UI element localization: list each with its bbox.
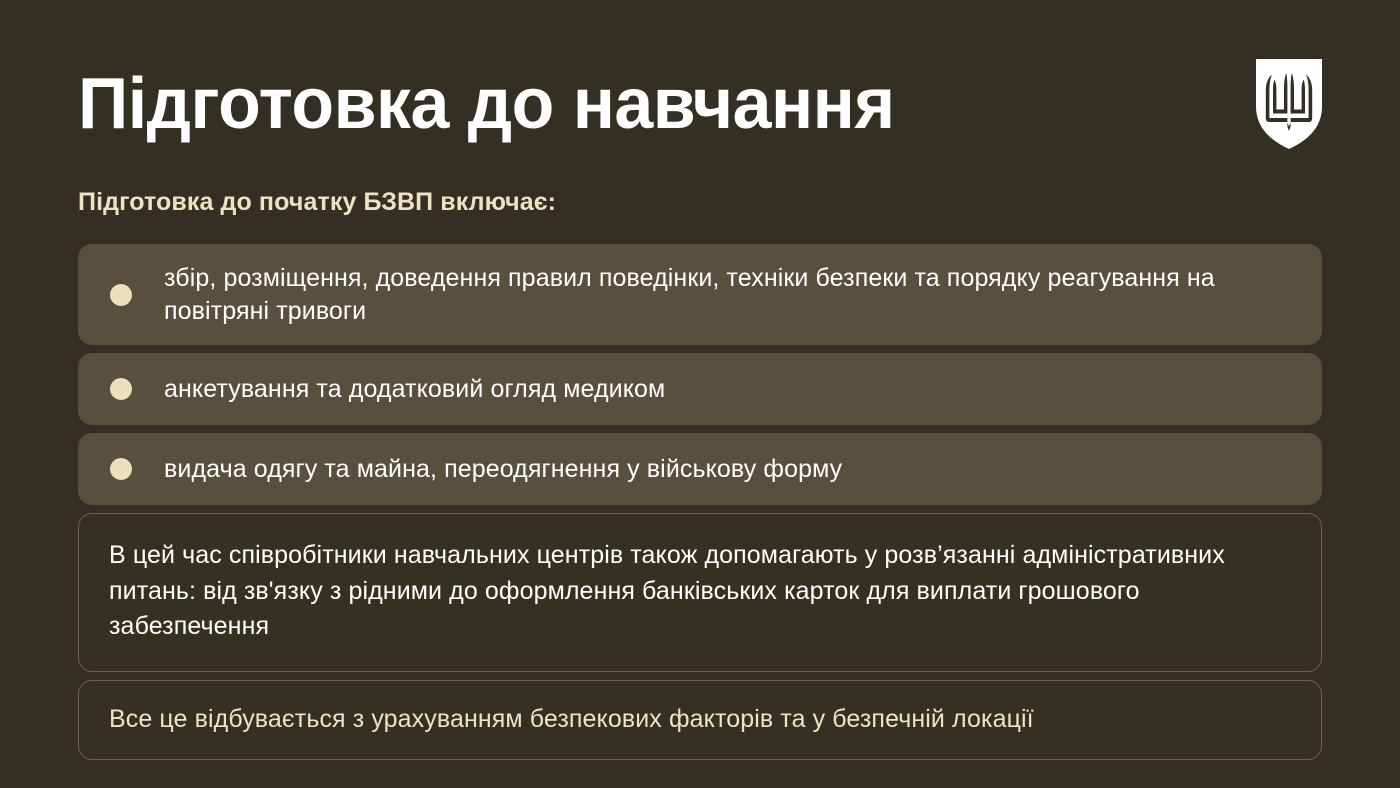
bullet-dot-icon <box>110 378 132 400</box>
bullet-card: видача одягу та майна, переодягнення у в… <box>78 433 1322 505</box>
page-title: Підготовка до навчання <box>78 68 895 140</box>
bullet-dot-icon <box>110 458 132 480</box>
note-panel-text: Все це відбувається з урахуванням безпек… <box>109 702 1034 738</box>
emblem <box>1256 59 1322 149</box>
info-panel: В цей час співробітники навчальних центр… <box>78 513 1322 672</box>
content-stack: збір, розміщення, доведення правил повед… <box>78 244 1322 768</box>
note-panel: Все це відбувається з урахуванням безпек… <box>78 680 1322 760</box>
subtitle: Підготовка до початку БЗВП включає: <box>78 187 556 217</box>
bullet-dot-icon <box>110 284 132 306</box>
ukrainian-armed-forces-trident-shield-icon <box>1256 59 1322 149</box>
bullet-text: анкетування та додатковий огляд медиком <box>164 373 665 406</box>
bullet-card: збір, розміщення, доведення правил повед… <box>78 244 1322 345</box>
bullet-card: анкетування та додатковий огляд медиком <box>78 353 1322 425</box>
slide-root: Підготовка до навчання Підготовка до поч… <box>0 0 1400 788</box>
bullet-text: видача одягу та майна, переодягнення у в… <box>164 453 842 486</box>
slide-header: Підготовка до навчання <box>78 54 1322 154</box>
info-panel-text: В цей час співробітники навчальних центр… <box>109 538 1291 645</box>
bullet-text: збір, розміщення, доведення правил повед… <box>164 262 1288 327</box>
